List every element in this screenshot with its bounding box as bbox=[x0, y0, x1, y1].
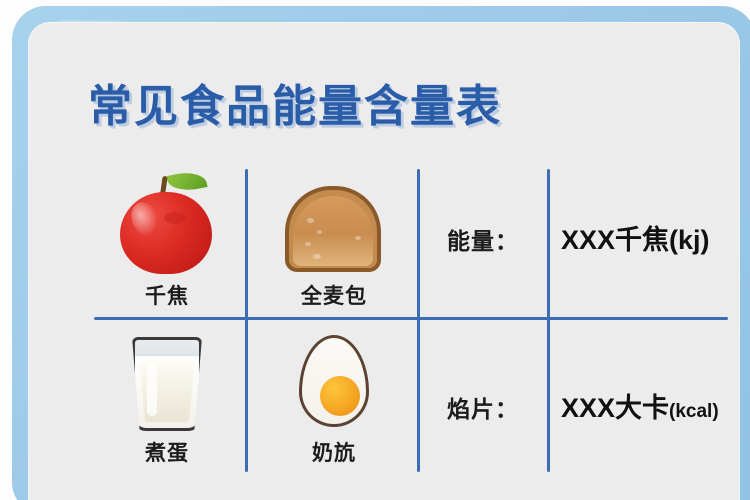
food-cell-milk: 煮蛋 bbox=[112, 327, 222, 467]
table-vertical-divider-2 bbox=[417, 169, 420, 472]
apple-notch-shape bbox=[164, 212, 186, 224]
metric-value-calorie-main: XXX大卡 bbox=[561, 393, 669, 423]
glass-highlight bbox=[147, 364, 157, 416]
metric-value-energy-unit: (kj) bbox=[669, 225, 710, 255]
food-label-milk: 煮蛋 bbox=[145, 437, 189, 467]
metric-value-energy-main: XXX千焦 bbox=[561, 225, 669, 255]
food-label-apple: 千焦 bbox=[145, 280, 189, 310]
food-label-bread: 全麦包 bbox=[301, 280, 367, 310]
milk-glass-icon bbox=[112, 327, 222, 433]
metric-label-calorie: 焰片： bbox=[447, 390, 519, 424]
metric-value-calorie: XXX大卡(kcal) bbox=[561, 386, 719, 425]
egg-white-shape bbox=[299, 335, 369, 427]
metric-value-energy: XXX千焦(kj) bbox=[561, 218, 710, 257]
bread-crumb-shape bbox=[293, 196, 373, 266]
food-cell-bread: 全麦包 bbox=[279, 170, 389, 310]
infographic-stage: 常见食品能量含量表 千焦 bbox=[0, 0, 750, 500]
food-cell-apple: 千焦 bbox=[112, 170, 222, 310]
bread-hole-4 bbox=[313, 254, 321, 259]
table-horizontal-divider bbox=[94, 317, 728, 320]
bread-hole-2 bbox=[317, 230, 322, 234]
apple-body-shape bbox=[120, 192, 212, 274]
egg-yolk-shape bbox=[320, 376, 360, 416]
apple-icon bbox=[112, 170, 222, 276]
metric-label-energy: 能量： bbox=[447, 222, 519, 256]
table-vertical-divider-1 bbox=[245, 169, 248, 472]
page-title: 常见食品能量含量表 bbox=[88, 70, 502, 134]
food-label-egg: 奶斻 bbox=[312, 437, 356, 467]
bread-crust-shape bbox=[285, 186, 381, 272]
bread-hole-5 bbox=[355, 236, 361, 240]
food-cell-egg: 奶斻 bbox=[279, 327, 389, 467]
table-vertical-divider-3 bbox=[547, 169, 550, 472]
apple-leaf-shape bbox=[166, 168, 207, 194]
bread-slice-icon bbox=[279, 170, 389, 276]
content-card: 常见食品能量含量表 千焦 bbox=[28, 22, 740, 500]
glass-shape bbox=[132, 337, 202, 431]
bread-hole-1 bbox=[307, 218, 314, 223]
bread-hole-3 bbox=[305, 242, 311, 246]
metric-value-calorie-unit: (kcal) bbox=[669, 401, 719, 422]
boiled-egg-icon bbox=[279, 327, 389, 433]
